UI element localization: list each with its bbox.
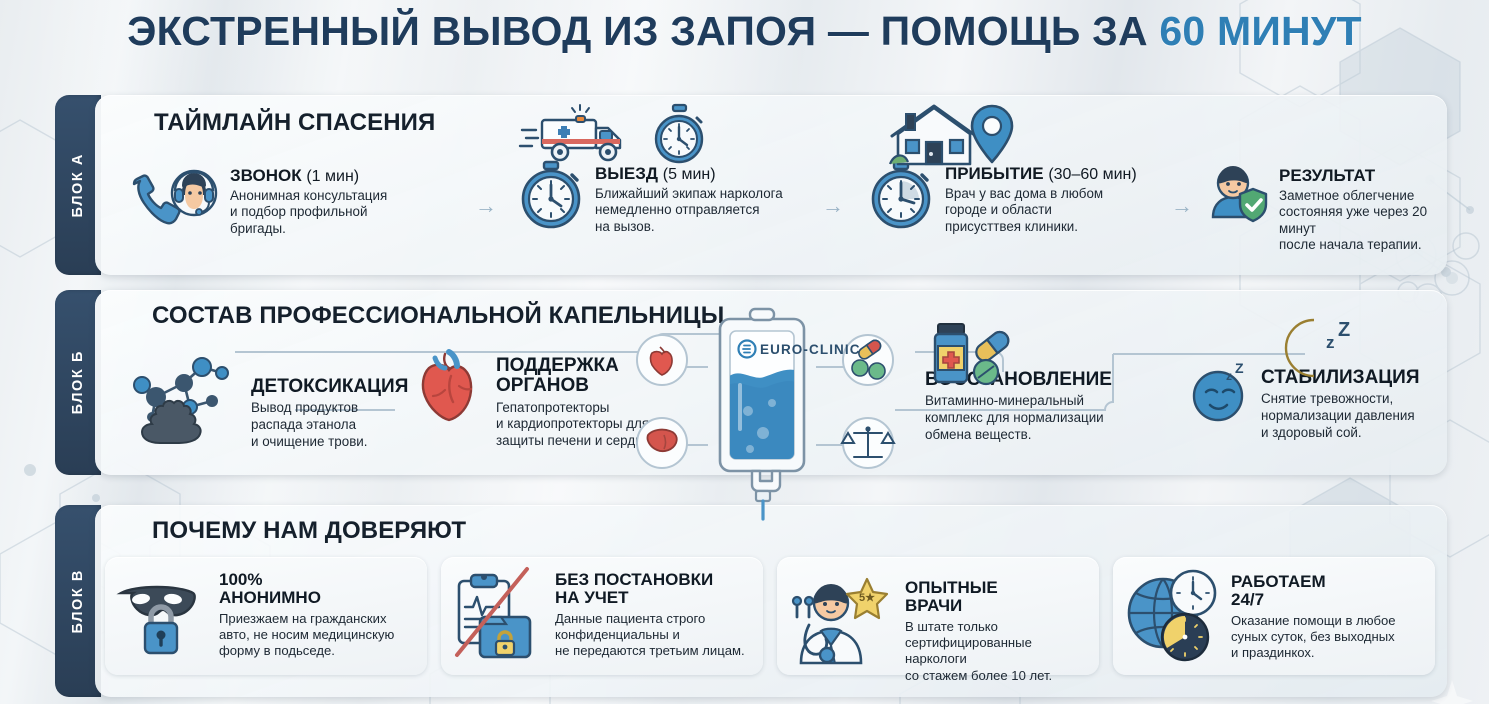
trust-title: ОПЫТНЫЕ ВРАЧИ [905, 579, 1089, 616]
page-title-accent: 60 МИНУТ [1159, 8, 1361, 54]
iv-desc: Снятие тревожности, нормализации давлени… [1261, 391, 1420, 441]
globe-clocks-icon [1123, 567, 1223, 663]
iv-item-detox: ДЕТОКСИКАЦИЯ Вывод продуктов распада эта… [130, 345, 408, 450]
block-c-body: ПОЧЕМУ НАМ ДОВЕРЯЮТ 100% АНОН [95, 505, 1447, 697]
satellite-liver [637, 418, 687, 468]
block-a-timeline: БЛОК А ТАЙМЛАЙН СПАСЕНИЯ [55, 95, 1447, 275]
svg-text:z: z [1326, 333, 1335, 352]
iv-item-organs: ПОДДЕРЖКА ОРГАНОВ Гепатопротекторы и кар… [415, 342, 654, 449]
trust-card-no-registration[interactable]: БЕЗ ПОСТАНОВКИ НА УЧЕТ Данные пациента с… [441, 557, 763, 675]
iv-drip-graphic: EURO-CLINIC [620, 305, 920, 520]
trust-desc: Оказание помощи в любое суных суток, без… [1231, 613, 1396, 662]
timeline-arrow-3: → [1171, 193, 1193, 219]
person-shield-check-icon [1207, 161, 1271, 231]
house-map-pin-icon [865, 159, 937, 231]
step-desc: Врач у вас дома в любом городе и области… [945, 186, 1137, 235]
heart-organ-icon [415, 342, 487, 422]
step-desc: Ближайший экипаж нарколога немедленно от… [595, 186, 783, 235]
iv-bag: EURO-CLINIC [720, 309, 861, 519]
clipboard-crossed-folder-lock-icon [451, 567, 547, 663]
trust-card-row: 100% АНОНИМНО Приезжаем на гражданских а… [105, 557, 1435, 675]
mask-lock-icon [115, 567, 211, 663]
iv-title: ДЕТОКСИКАЦИЯ [251, 377, 408, 397]
block-a-tab-label: БЛОК А [70, 153, 86, 217]
satellite-heart [637, 335, 687, 385]
trust-title: РАБОТАЕМ 24/7 [1231, 573, 1396, 610]
step-time: (1 мин) [306, 168, 359, 185]
trust-card-anonymous[interactable]: 100% АНОНИМНО Приезжаем на гражданских а… [105, 557, 427, 675]
block-c-trust: БЛОК В ПОЧЕМУ НАМ ДОВЕРЯЮТ [55, 505, 1447, 697]
stopwatch-icon [652, 105, 708, 165]
medicine-bottle-capsules-icon [930, 322, 1026, 386]
timeline-arrow-2: → [822, 193, 844, 219]
page-title-main: ЭКСТРЕННЫЙ ВЫВОД ИЗ ЗАПОЯ — ПОМОЩЬ ЗА [127, 8, 1159, 54]
svg-text:Z: Z [1235, 360, 1244, 376]
trust-desc: Данные пациента строго конфиденциальны и… [555, 611, 745, 660]
iv-bag-logo-text: EURO-CLINIC [760, 342, 861, 357]
trust-card-doctors[interactable]: 5★ ОПЫТНЫЕ ВРАЧИ В штате только сертифиц… [777, 557, 1099, 675]
step-title: ВЫЕЗД [595, 164, 658, 183]
step-title: ЗВОНОК [230, 166, 302, 185]
trust-card-24-7[interactable]: РАБОТАЕМ 24/7 Оказание помощи в любое су… [1113, 557, 1435, 675]
timeline-arrow-1: → [475, 193, 497, 219]
step-time: (5 мин) [663, 166, 716, 183]
phone-headset-operator-icon [130, 161, 222, 237]
trust-title: 100% АНОНИМНО [219, 571, 394, 608]
ambulance-stopwatch-icon [515, 159, 587, 231]
doctor-badge-text: 5★ [859, 592, 875, 604]
step-desc: Анонимная консультация и подбор профильн… [230, 188, 387, 237]
timeline-steps: ЗВОНОК (1 мин) Анонимная консультация и … [95, 157, 1447, 267]
satellite-scales [842, 418, 894, 468]
trust-desc: В штате только сертифицированные нарколо… [905, 619, 1089, 684]
trust-title: БЕЗ ПОСТАНОВКИ НА УЧЕТ [555, 571, 745, 608]
molecule-toxin-icon [130, 345, 242, 445]
house-icon [890, 104, 1016, 168]
doctor-star-badge-icon: 5★ [787, 567, 897, 667]
trust-desc: Приезжаем на гражданских авто, не носим … [219, 611, 394, 660]
iv-desc: Вывод продуктов распада этанола и очищен… [251, 400, 408, 450]
svg-text:z: z [1226, 369, 1232, 383]
timeline-step-result: РЕЗУЛЬТАТ Заметное облегчение состояняя … [1207, 161, 1447, 254]
page-title: ЭКСТРЕННЫЙ ВЫВОД ИЗ ЗАПОЯ — ПОМОЩЬ ЗА 60… [0, 8, 1489, 55]
step-title: РЕЗУЛЬТАТ [1279, 166, 1375, 185]
block-c-tab-label: БЛОК В [70, 569, 86, 633]
block-c-heading: ПОЧЕМУ НАМ ДОВЕРЯЮТ [152, 517, 466, 545]
ambulance-icon [520, 104, 640, 166]
timeline-step-call: ЗВОНОК (1 мин) Анонимная консультация и … [130, 161, 387, 237]
block-a-body: ТАЙМЛАЙН СПАСЕНИЯ [95, 95, 1447, 275]
block-a-heading: ТАЙМЛАЙН СПАСЕНИЯ [154, 109, 435, 137]
step-time: (30–60 мин) [1048, 166, 1136, 183]
timeline-step-arrival: ПРИБЫТИЕ (30–60 мин) Врач у вас дома в л… [865, 159, 1137, 235]
crescent-moon-sleep-icon: z Z [1280, 318, 1360, 380]
timeline-step-dispatch: ВЫЕЗД (5 мин) Ближайший экипаж нарколога… [515, 159, 783, 235]
svg-text:Z: Z [1338, 319, 1350, 341]
iv-desc: Витаминно-минеральный комплекс для норма… [925, 393, 1112, 443]
sleeping-face-icon: z Z [1190, 362, 1252, 424]
step-desc: Заметное облегчение состояняя уже через … [1279, 188, 1447, 254]
block-b-tab-label: БЛОК Б [70, 350, 86, 414]
